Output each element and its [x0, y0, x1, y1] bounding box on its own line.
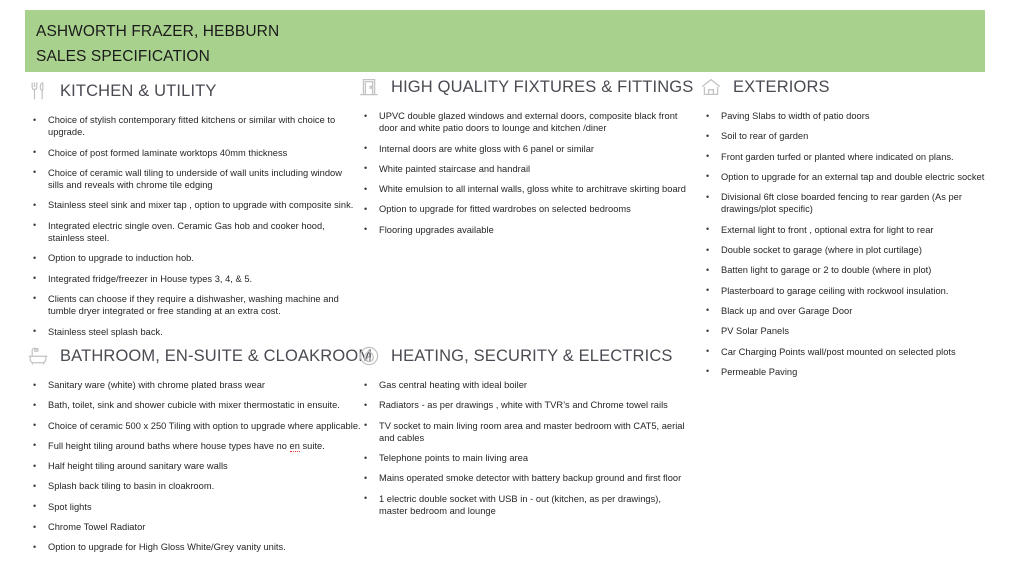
list-item: Paving Slabs to width of patio doors	[698, 110, 998, 122]
list-item: White painted staircase and handrail	[356, 163, 690, 175]
list-item: Flooring upgrades available	[356, 224, 690, 236]
column-right: EXTERIORS Paving Slabs to width of patio…	[698, 74, 998, 388]
list-item-misspelled: Full height tiling around baths where ho…	[25, 440, 365, 452]
list-item: Spot lights	[25, 501, 365, 513]
list-item: Sanitary ware (white) with chrome plated…	[25, 379, 365, 391]
house-icon	[698, 74, 724, 100]
list-item: Divisional 6ft close boarded fencing to …	[698, 191, 998, 216]
section-header-exteriors: EXTERIORS	[698, 74, 998, 100]
list-item: Stainless steel sink and mixer tap , opt…	[25, 199, 355, 211]
list-item: Telephone points to main living area	[356, 452, 690, 464]
section-title-heating: HEATING, SECURITY & ELECTRICS	[391, 347, 673, 366]
list-item: Radiators - as per drawings , white with…	[356, 399, 690, 411]
section-title-kitchen: KITCHEN & UTILITY	[60, 82, 217, 101]
section-high-quality-fixtures-fittings: HIGH QUALITY FIXTURES & FITTINGS UPVC do…	[356, 74, 690, 236]
list-item: Option to upgrade for an external tap an…	[698, 171, 998, 183]
title-banner: ASHWORTH FRAZER, HEBBURN SALES SPECIFICA…	[25, 10, 985, 72]
list-item: PV Solar Panels	[698, 325, 998, 337]
list-item: Clients can choose if they require a dis…	[25, 293, 355, 318]
bullet-list-kitchen: Choice of stylish contemporary fitted ki…	[25, 114, 355, 338]
list-item: Bath, toilet, sink and shower cubicle wi…	[25, 399, 365, 411]
section-kitchen-utility: KITCHEN & UTILITY Choice of stylish cont…	[25, 78, 355, 338]
list-item: Splash back tiling to basin in cloakroom…	[25, 480, 365, 492]
door-icon	[356, 74, 382, 100]
list-item: Mains operated smoke detector with batte…	[356, 472, 690, 484]
bullet-list-fixtures: UPVC double glazed windows and external …	[356, 110, 690, 236]
list-item: Half height tiling around sanitary ware …	[25, 460, 365, 472]
list-item: 1 electric double socket with USB in - o…	[356, 493, 690, 518]
list-item: White emulsion to all internal walls, gl…	[356, 183, 690, 195]
section-header-bathroom: BATHROOM, EN-SUITE & CLOAKROOM	[25, 343, 365, 369]
list-item: Stainless steel splash back.	[25, 326, 355, 338]
title-line-document: SALES SPECIFICATION	[36, 44, 985, 69]
section-header-heating: HEATING, SECURITY & ELECTRICS	[356, 343, 690, 369]
list-item: Car Charging Points wall/post mounted on…	[698, 346, 998, 358]
list-item: Integrated fridge/freezer in House types…	[25, 273, 355, 285]
bullet-list-bathroom: Sanitary ware (white) with chrome plated…	[25, 379, 365, 554]
list-item: Internal doors are white gloss with 6 pa…	[356, 143, 690, 155]
section-title-exteriors: EXTERIORS	[733, 78, 830, 97]
flame-icon	[356, 343, 382, 369]
list-item: Permeable Paving	[698, 366, 998, 378]
spellcheck-word: en	[290, 441, 300, 452]
section-bathroom-ensuite-cloakroom: BATHROOM, EN-SUITE & CLOAKROOM Sanitary …	[25, 343, 365, 562]
bullet-list-exteriors: Paving Slabs to width of patio doors Soi…	[698, 110, 998, 378]
list-item: Choice of post formed laminate worktops …	[25, 147, 355, 159]
list-item: Choice of ceramic wall tiling to undersi…	[25, 167, 355, 192]
bullet-list-heating: Gas central heating with ideal boiler Ra…	[356, 379, 690, 517]
section-heating-security-electrics: HEATING, SECURITY & ELECTRICS Gas centra…	[356, 343, 690, 525]
column-middle: HIGH QUALITY FIXTURES & FITTINGS UPVC do…	[356, 74, 690, 246]
list-item: Choice of stylish contemporary fitted ki…	[25, 114, 355, 139]
list-item: External light to front , optional extra…	[698, 224, 998, 236]
list-item: Option to upgrade to induction hob.	[25, 252, 355, 264]
list-item: TV socket to main living room area and m…	[356, 420, 690, 445]
list-item: Black up and over Garage Door	[698, 305, 998, 317]
section-title-bathroom: BATHROOM, EN-SUITE & CLOAKROOM	[60, 347, 372, 366]
list-item: Chrome Towel Radiator	[25, 521, 365, 533]
bathtub-icon	[25, 343, 51, 369]
section-exteriors: EXTERIORS Paving Slabs to width of patio…	[698, 74, 998, 378]
list-item: Choice of ceramic 500 x 250 Tiling with …	[25, 420, 365, 432]
list-item: Integrated electric single oven. Ceramic…	[25, 220, 355, 245]
list-item: Front garden turfed or planted where ind…	[698, 151, 998, 163]
list-item: Plasterboard to garage ceiling with rock…	[698, 285, 998, 297]
section-header-kitchen: KITCHEN & UTILITY	[25, 78, 355, 104]
list-item: UPVC double glazed windows and external …	[356, 110, 690, 135]
list-item: Double socket to garage (where in plot c…	[698, 244, 998, 256]
section-header-fixtures: HIGH QUALITY FIXTURES & FITTINGS	[356, 74, 690, 100]
title-line-company: ASHWORTH FRAZER, HEBBURN	[36, 19, 985, 44]
column-left: KITCHEN & UTILITY Choice of stylish cont…	[25, 78, 355, 348]
list-item: Option to upgrade for fitted wardrobes o…	[356, 203, 690, 215]
list-item: Soil to rear of garden	[698, 130, 998, 142]
list-item: Option to upgrade for High Gloss White/G…	[25, 541, 365, 553]
slide-canvas: ASHWORTH FRAZER, HEBBURN SALES SPECIFICA…	[0, 0, 1024, 575]
list-item: Gas central heating with ideal boiler	[356, 379, 690, 391]
section-title-fixtures: HIGH QUALITY FIXTURES & FITTINGS	[391, 78, 693, 97]
cutlery-icon	[25, 78, 51, 104]
list-item: Batten light to garage or 2 to double (w…	[698, 264, 998, 276]
